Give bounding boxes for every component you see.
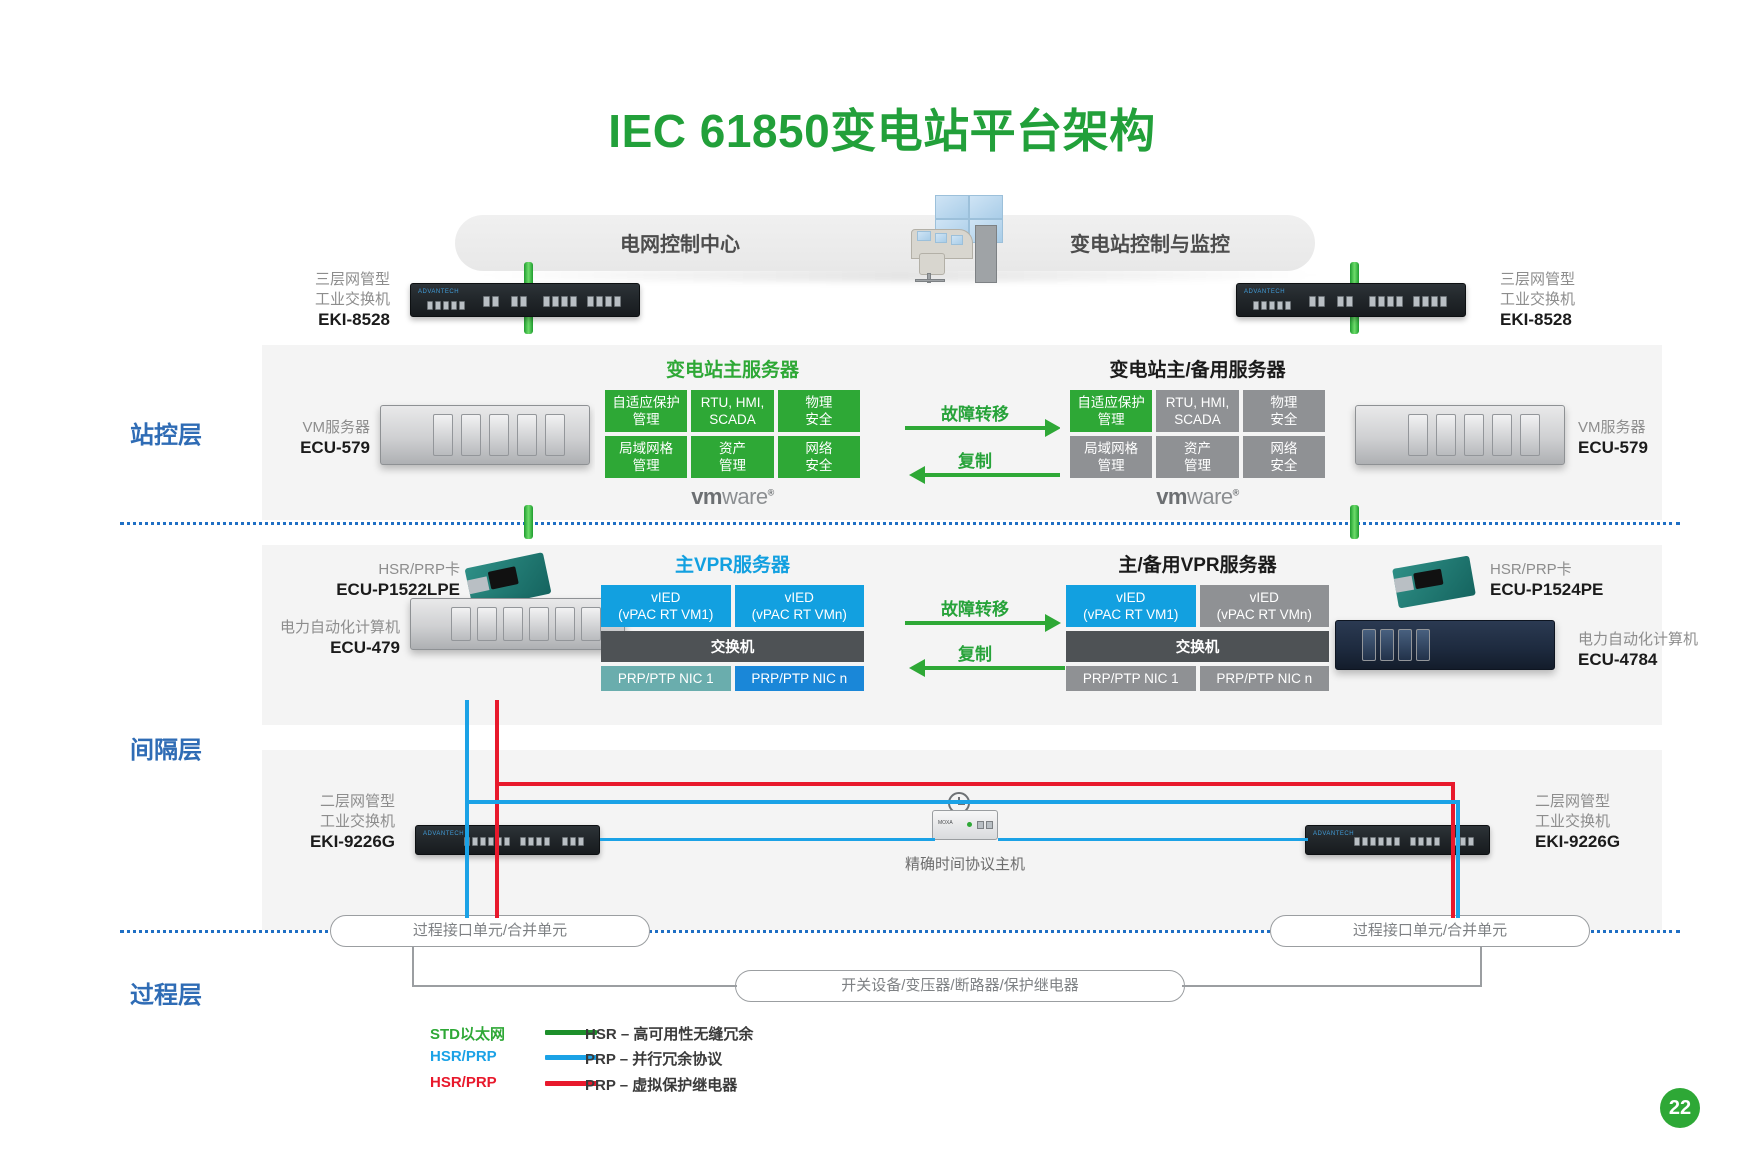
connector-left-interface-right xyxy=(412,985,737,987)
bay-left-card-label: HSR/PRP卡 ECU-P1522LPE xyxy=(300,560,460,601)
layer-label-bay: 间隔层 xyxy=(130,730,202,765)
arrow-label-failover-bay: 故障转移 xyxy=(905,595,1045,620)
station-left-device-label: VM服务器 ECU-579 xyxy=(250,418,370,459)
switch-label-bot-left: 二层网管型 工业交换机 EKI-9226G xyxy=(230,792,395,853)
panel-title: 变电站主/备用服务器 xyxy=(1060,350,1335,382)
switch-type-line2: 工业交换机 xyxy=(1500,291,1575,308)
cell-physical-security: 物理安全 xyxy=(778,390,860,432)
process-interface-unit-left: 过程接口单元/合并单元 xyxy=(330,915,650,947)
switch-model: EKI-8528 xyxy=(1500,310,1572,329)
switch-type-line2: 工业交换机 xyxy=(315,291,390,308)
arrow-line-replication-station xyxy=(925,473,1065,477)
primary-vpr-nics: PRP/PTP NIC 1 PRP/PTP NIC n xyxy=(601,666,864,691)
cell-asset-management: 资产管理 xyxy=(691,436,773,478)
cell-lan-management: 局域网格管理 xyxy=(1070,436,1152,478)
switch-type-line1: 二层网管型 xyxy=(320,793,395,810)
device-model: ECU-4784 xyxy=(1578,650,1657,669)
cell-rtu-hmi-scada: RTU, HMI,SCADA xyxy=(691,390,773,432)
line-switch-to-ptp-right xyxy=(998,838,1308,841)
arrow-label-replication-bay: 复制 xyxy=(905,640,1045,665)
cell-prp-ptp-nic-1: PRP/PTP NIC 1 xyxy=(601,666,731,691)
process-equipment: 开关设备/变压器/断路器/保护继电器 xyxy=(735,970,1185,1002)
arrow-label-replication-station: 复制 xyxy=(905,447,1045,472)
bay-right-card-label: HSR/PRP卡 ECU-P1524PE xyxy=(1490,560,1660,601)
card-model: ECU-P1524PE xyxy=(1490,580,1603,599)
arrow-line-replication-bay xyxy=(925,666,1065,670)
rack-server-ecu579-right xyxy=(1355,405,1565,465)
device-model: ECU-579 xyxy=(1578,438,1648,457)
rack-server-ecu4784 xyxy=(1335,620,1555,670)
panel-primary-vpr-server: 主VPR服务器 vIED(vPAC RT VM1) vIED(vPAC RT V… xyxy=(595,550,870,700)
cell-vied-vmn: vIED(vPAC RT VMn) xyxy=(1200,585,1330,627)
control-room-icon xyxy=(905,195,1010,285)
line-switch-to-ptp-left xyxy=(600,838,935,841)
standby-station-cells: 自适应保护管理 RTU, HMI,SCADA 物理安全 局域网格管理 资产管理 … xyxy=(1070,390,1325,478)
cell-vied-vm1: vIED(vPAC RT VM1) xyxy=(601,585,731,627)
standby-vpr-switch-bar: 交换机 xyxy=(1066,631,1329,662)
primary-station-cells: 自适应保护管理 RTU, HMI,SCADA 物理安全 局域网格管理 资产管理 … xyxy=(605,390,860,478)
vmware-logo-standby: vmware® xyxy=(1060,484,1335,510)
line-prp-left-vertical xyxy=(465,700,469,918)
panel-title: 变电站主服务器 xyxy=(595,350,870,382)
arrow-head-replication-bay xyxy=(909,659,925,677)
line-prp-left-elbow-h xyxy=(465,800,1460,804)
switch-model: EKI-9226G xyxy=(1535,832,1620,851)
legend-name-1: HSR/PRP xyxy=(430,1048,497,1065)
cell-prp-ptp-nic-1: PRP/PTP NIC 1 xyxy=(1066,666,1196,691)
bay-left-device-label: 电力自动化计算机 ECU-479 xyxy=(245,618,400,659)
switch-label-top-right: 三层网管型 工业交换机 EKI-8528 xyxy=(1500,270,1670,331)
device-type: 电力自动化计算机 xyxy=(1578,631,1698,648)
cell-physical-security: 物理安全 xyxy=(1243,390,1325,432)
patch-cable-station-right xyxy=(1350,505,1359,539)
station-right-device-label: VM服务器 ECU-579 xyxy=(1578,418,1708,459)
panel-standby-station-server: 变电站主/备用服务器 自适应保护管理 RTU, HMI,SCADA 物理安全 局… xyxy=(1060,350,1335,515)
connector-right-interface-down xyxy=(1480,947,1482,986)
device-type: VM服务器 xyxy=(302,419,370,436)
switch-eki9226g-left: ADVANTECH xyxy=(415,825,600,855)
line-vpr-left-vertical xyxy=(495,700,499,918)
legend-desc-1: PRP – 并行冗余协议 xyxy=(585,1048,722,1069)
legend-desc-2: PRP – 虚拟保护继电器 xyxy=(585,1074,737,1095)
layer-label-station: 站控层 xyxy=(130,415,202,450)
banner-label-control-center: 电网控制中心 xyxy=(530,228,830,257)
connector-left-interface-down xyxy=(412,947,414,986)
switch-label-bot-right: 二层网管型 工业交换机 EKI-9226G xyxy=(1535,792,1705,853)
cell-adaptive-protection: 自适应保护管理 xyxy=(605,390,687,432)
cell-rtu-hmi-scada: RTU, HMI,SCADA xyxy=(1156,390,1238,432)
card-type: HSR/PRP卡 xyxy=(378,561,460,578)
device-model: ECU-479 xyxy=(330,638,400,657)
process-interface-unit-right: 过程接口单元/合并单元 xyxy=(1270,915,1590,947)
arrow-head-failover-station xyxy=(1045,419,1061,437)
switch-eki9226g-right: ADVANTECH xyxy=(1305,825,1490,855)
cell-network-security: 网络安全 xyxy=(778,436,860,478)
primary-vpr-switch-bar: 交换机 xyxy=(601,631,864,662)
arrow-line-failover-bay xyxy=(905,621,1045,625)
switch-eki8528-left: ADVANTECH xyxy=(410,283,640,317)
cell-prp-ptp-nic-n: PRP/PTP NIC n xyxy=(1200,666,1330,691)
cell-asset-management: 资产管理 xyxy=(1156,436,1238,478)
rack-server-ecu579-left xyxy=(380,405,590,465)
switch-type-line2: 工业交换机 xyxy=(320,813,395,830)
arrow-label-failover-station: 故障转移 xyxy=(905,400,1045,425)
ptp-master-label: 精确时间协议主机 xyxy=(840,853,1090,874)
device-model: ECU-579 xyxy=(300,438,370,457)
layer-separator-1 xyxy=(120,522,1680,525)
arrow-head-replication-station xyxy=(909,466,925,484)
cell-vied-vmn: vIED(vPAC RT VMn) xyxy=(735,585,865,627)
line-prp-right-vertical xyxy=(1456,800,1460,918)
switch-eki8528-right: ADVANTECH xyxy=(1236,283,1466,317)
cell-lan-management: 局域网格管理 xyxy=(605,436,687,478)
cell-network-security: 网络安全 xyxy=(1243,436,1325,478)
switch-type-line1: 三层网管型 xyxy=(315,271,390,288)
panel-title: 主VPR服务器 xyxy=(595,550,870,577)
standby-vpr-vms: vIED(vPAC RT VM1) vIED(vPAC RT VMn) xyxy=(1066,585,1329,627)
line-vpr-left-elbow-h xyxy=(495,782,1455,786)
switch-model: EKI-8528 xyxy=(318,310,390,329)
vmware-logo-primary: vmware® xyxy=(595,484,870,510)
standby-vpr-nics: PRP/PTP NIC 1 PRP/PTP NIC n xyxy=(1066,666,1329,691)
switch-type-line2: 工业交换机 xyxy=(1535,813,1610,830)
legend-name-2: HSR/PRP xyxy=(430,1074,497,1091)
card-model: ECU-P1522LPE xyxy=(336,580,460,599)
page-title: IEC 61850变电站平台架构 xyxy=(0,95,1764,161)
cell-adaptive-protection: 自适应保护管理 xyxy=(1070,390,1152,432)
switch-label-top-left: 三层网管型 工业交换机 EKI-8528 xyxy=(230,270,390,331)
switch-type-line1: 二层网管型 xyxy=(1535,793,1610,810)
cell-prp-ptp-nic-n: PRP/PTP NIC n xyxy=(735,666,865,691)
banner-label-substation: 变电站控制与监控 xyxy=(980,228,1320,257)
cell-vied-vm1: vIED(vPAC RT VM1) xyxy=(1066,585,1196,627)
layer-label-process: 过程层 xyxy=(130,975,202,1010)
switch-model: EKI-9226G xyxy=(310,832,395,851)
connector-right-interface-left xyxy=(1182,985,1482,987)
primary-vpr-vms: vIED(vPAC RT VM1) vIED(vPAC RT VMn) xyxy=(601,585,864,627)
patch-cable-station-left xyxy=(524,505,533,539)
device-type: VM服务器 xyxy=(1578,419,1646,436)
legend-name-0: STD以太网 xyxy=(430,1023,505,1044)
switch-type-line1: 三层网管型 xyxy=(1500,271,1575,288)
bay-right-device-label: 电力自动化计算机 ECU-4784 xyxy=(1578,630,1748,671)
legend-desc-0: HSR – 高可用性无缝冗余 xyxy=(585,1023,753,1044)
card-type: HSR/PRP卡 xyxy=(1490,561,1572,578)
arrow-line-failover-station xyxy=(905,426,1045,430)
rack-server-ecu479 xyxy=(410,598,625,650)
page-number-badge: 22 xyxy=(1660,1088,1700,1128)
arrow-head-failover-bay xyxy=(1045,614,1061,632)
device-type: 电力自动化计算机 xyxy=(280,619,400,636)
ptp-master-device: MOXA xyxy=(932,810,998,840)
panel-primary-station-server: 变电站主服务器 自适应保护管理 RTU, HMI,SCADA 物理安全 局域网格… xyxy=(595,350,870,515)
panel-standby-vpr-server: 主/备用VPR服务器 vIED(vPAC RT VM1) vIED(vPAC R… xyxy=(1060,550,1335,700)
panel-title: 主/备用VPR服务器 xyxy=(1060,550,1335,577)
